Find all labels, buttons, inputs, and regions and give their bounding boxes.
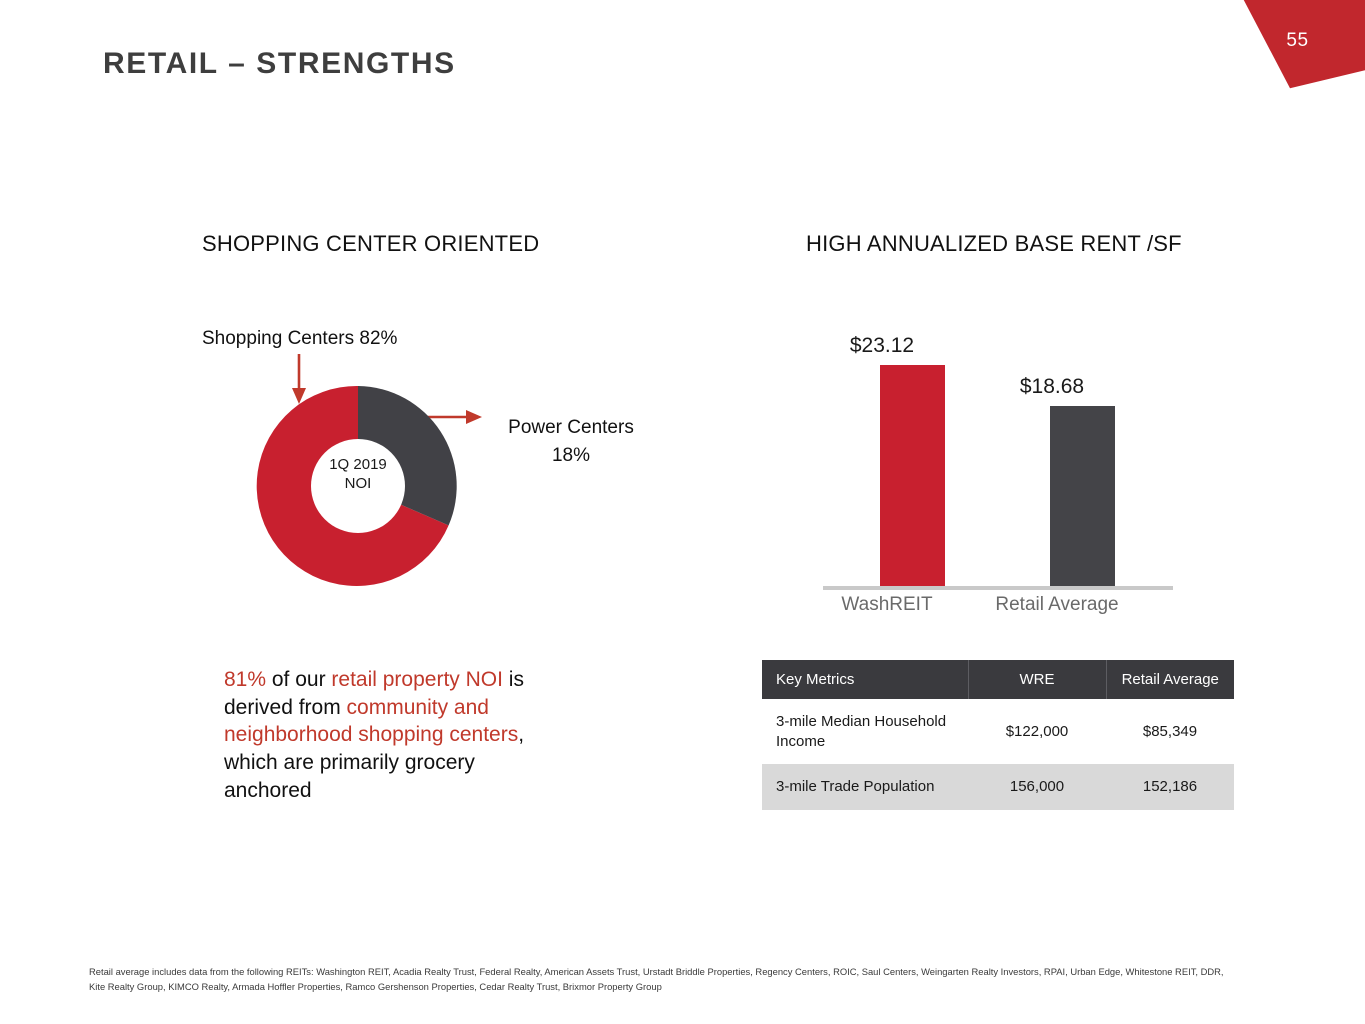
donut-chart: 1Q 2019 NOI (256, 384, 460, 588)
bar-washreit (880, 365, 945, 586)
table-header-key-metrics: Key Metrics (762, 660, 968, 699)
donut-callout-shopping-centers: Shopping Centers 82% (202, 328, 397, 350)
table-cell-retail-average: $85,349 (1106, 699, 1234, 764)
body-copy-seg3: retail property NOI (331, 668, 503, 691)
table-row: 3-mile Trade Population 156,000 152,186 (762, 764, 1234, 810)
power-centers-label-line1: Power Centers (496, 414, 646, 442)
page-title: RETAIL – STRENGTHS (103, 47, 456, 81)
table-cell-retail-average: 152,186 (1106, 764, 1234, 810)
table-cell-metric: 3-mile Median Household Income (762, 699, 968, 764)
bar-chart-plot-area: $23.12 $18.68 (820, 330, 1180, 588)
body-copy-seg1: 81% (224, 668, 266, 691)
slide-canvas: 55 RETAIL – STRENGTHS SHOPPING CENTER OR… (0, 0, 1365, 1024)
bar-value-washreit: $23.12 (817, 334, 947, 358)
table-header-retail-average: Retail Average (1106, 660, 1234, 699)
key-metrics-table: Key Metrics WRE Retail Average 3-mile Me… (762, 660, 1234, 810)
bar-chart-baseline (823, 586, 1173, 590)
table-cell-wre: 156,000 (968, 764, 1106, 810)
table-cell-wre: $122,000 (968, 699, 1106, 764)
table-cell-metric: 3-mile Trade Population (762, 764, 968, 810)
bar-category-washreit: WashREIT (812, 594, 962, 616)
bar-category-retail-average: Retail Average (982, 594, 1132, 616)
page-number: 55 (1240, 30, 1355, 52)
power-centers-label-line2: 18% (496, 442, 646, 470)
donut-chart-svg (256, 384, 460, 588)
donut-hole (311, 439, 405, 533)
footnote-line1: Retail average includes data from the fo… (89, 965, 1319, 980)
bar-retail-average (1050, 406, 1115, 586)
donut-callout-power-centers: Power Centers 18% (496, 414, 646, 469)
bar-chart: $23.12 $18.68 WashREIT Retail Average (820, 330, 1180, 625)
table-row: 3-mile Median Household Income $122,000 … (762, 699, 1234, 764)
left-body-copy: 81% of our retail property NOI is derive… (224, 666, 554, 805)
bar-value-retail-average: $18.68 (987, 375, 1117, 399)
body-copy-seg2: of our (266, 668, 331, 691)
right-section-heading: HIGH ANNUALIZED BASE RENT /SF (806, 231, 1182, 257)
footnote-line2: Kite Realty Group, KIMCO Realty, Armada … (89, 980, 1319, 995)
page-number-flag: 55 (1240, 0, 1365, 90)
left-section-heading: SHOPPING CENTER ORIENTED (202, 231, 539, 257)
footnote: Retail average includes data from the fo… (89, 965, 1319, 994)
table-header-wre: WRE (968, 660, 1106, 699)
table-header-row: Key Metrics WRE Retail Average (762, 660, 1234, 699)
